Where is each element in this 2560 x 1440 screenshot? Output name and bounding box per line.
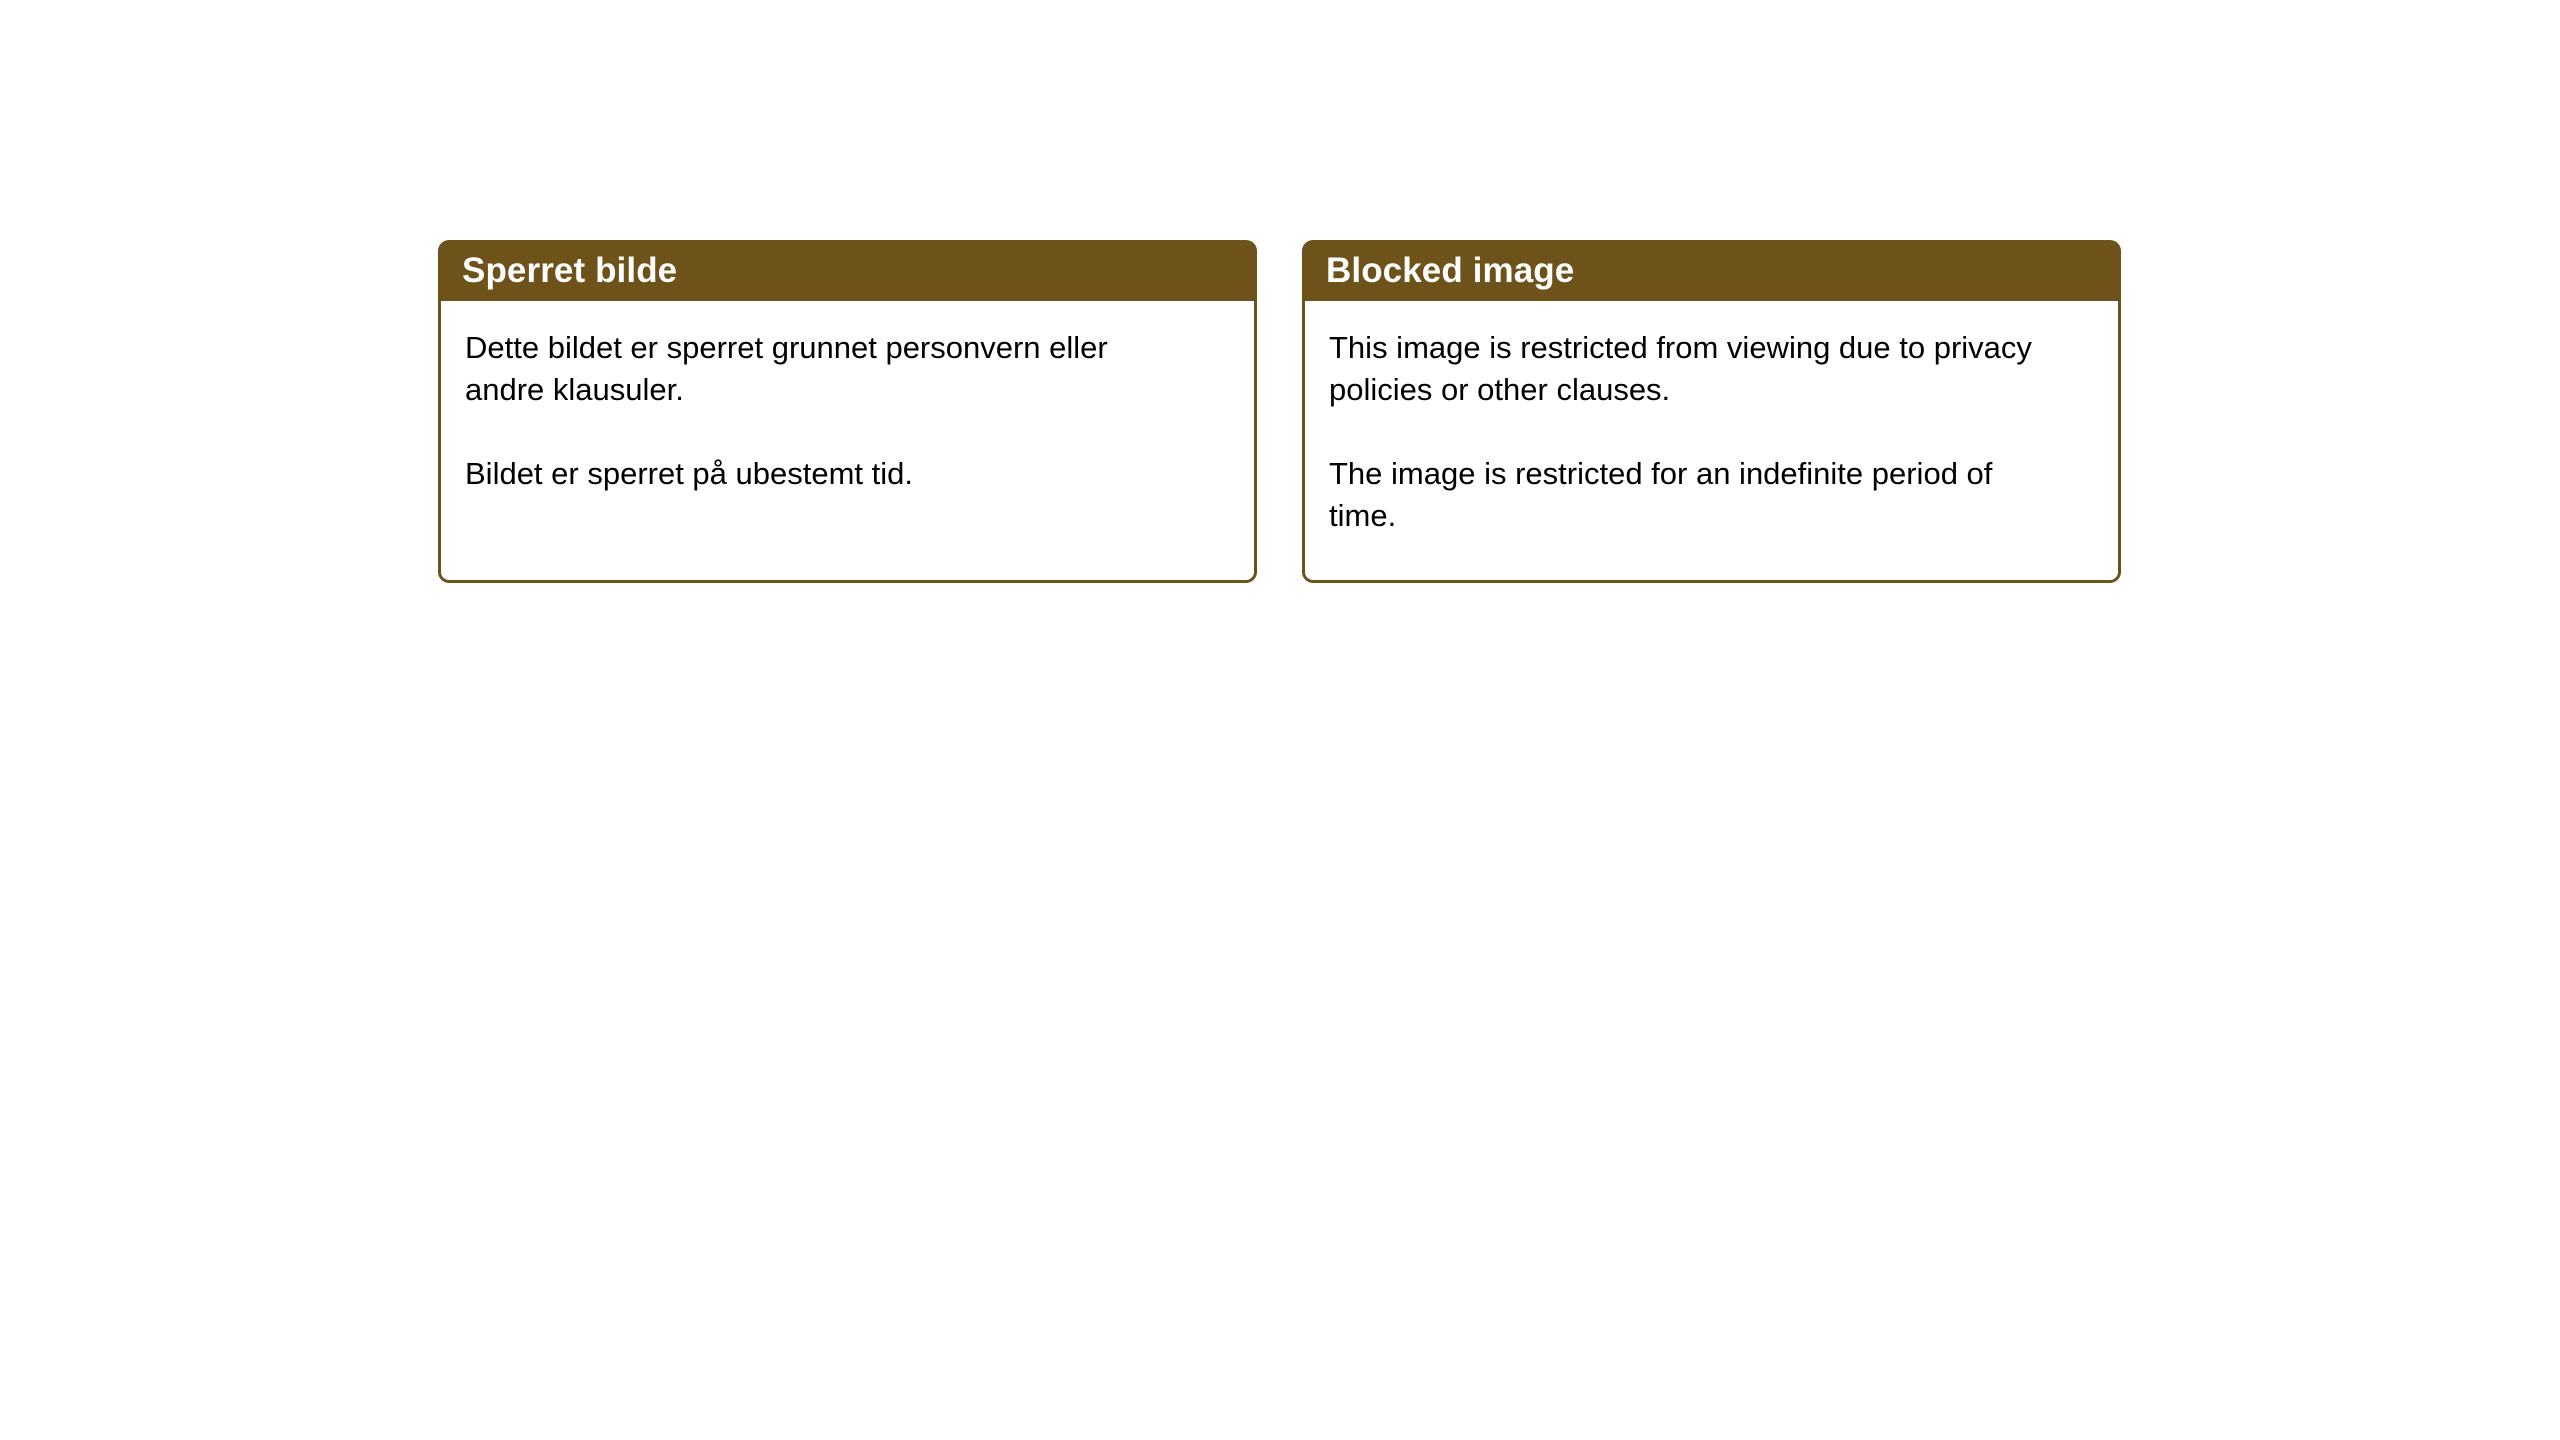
paragraph-spacer bbox=[465, 411, 1230, 453]
page-root: Sperret bilde Dette bildet er sperret gr… bbox=[0, 0, 2560, 1440]
panel-paragraph-primary-norwegian: Dette bildet er sperret grunnet personve… bbox=[465, 327, 1195, 411]
panel-header-english: Blocked image bbox=[1302, 240, 2121, 301]
panel-header-norwegian: Sperret bilde bbox=[438, 240, 1257, 301]
panel-paragraph-secondary-english: The image is restricted for an indefinit… bbox=[1329, 453, 2059, 537]
panel-paragraph-primary-english: This image is restricted from viewing du… bbox=[1329, 327, 2059, 411]
panel-body-norwegian: Dette bildet er sperret grunnet personve… bbox=[438, 301, 1257, 583]
panel-title-norwegian: Sperret bilde bbox=[462, 253, 677, 288]
panel-title-english: Blocked image bbox=[1326, 253, 1574, 288]
blocked-image-panel-english: Blocked image This image is restricted f… bbox=[1302, 240, 2121, 583]
panel-paragraph-secondary-norwegian: Bildet er sperret på ubestemt tid. bbox=[465, 453, 1195, 495]
paragraph-spacer bbox=[1329, 411, 2094, 453]
panel-body-english: This image is restricted from viewing du… bbox=[1302, 301, 2121, 583]
blocked-image-panels: Sperret bilde Dette bildet er sperret gr… bbox=[438, 240, 2121, 583]
blocked-image-panel-norwegian: Sperret bilde Dette bildet er sperret gr… bbox=[438, 240, 1257, 583]
